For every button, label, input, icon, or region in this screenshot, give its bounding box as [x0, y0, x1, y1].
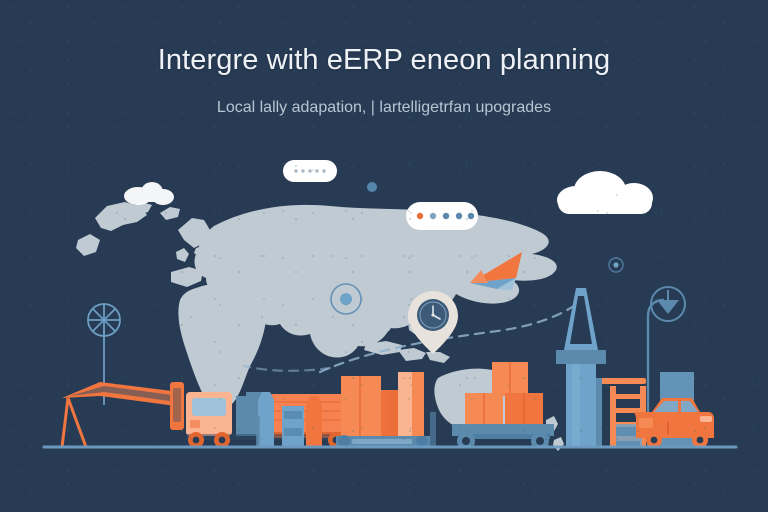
illustration-canvas: Intergre with eERP eneon planning Local …	[0, 0, 768, 512]
route-dashed-path-left	[244, 366, 330, 371]
chat-bubble-large[interactable]	[406, 202, 478, 230]
page-title: Intergre with eERP eneon planning	[0, 44, 768, 77]
tall-boxes-right	[398, 372, 424, 436]
cloud-left	[124, 182, 174, 205]
radar-dot-icon-right	[609, 258, 623, 272]
chat-bubble-small[interactable]	[283, 160, 337, 182]
radar-dot-icon-map	[367, 182, 377, 192]
page-subtitle: Local lally adapation, | lartelligetrfan…	[0, 99, 768, 117]
cloud-right	[557, 171, 653, 214]
